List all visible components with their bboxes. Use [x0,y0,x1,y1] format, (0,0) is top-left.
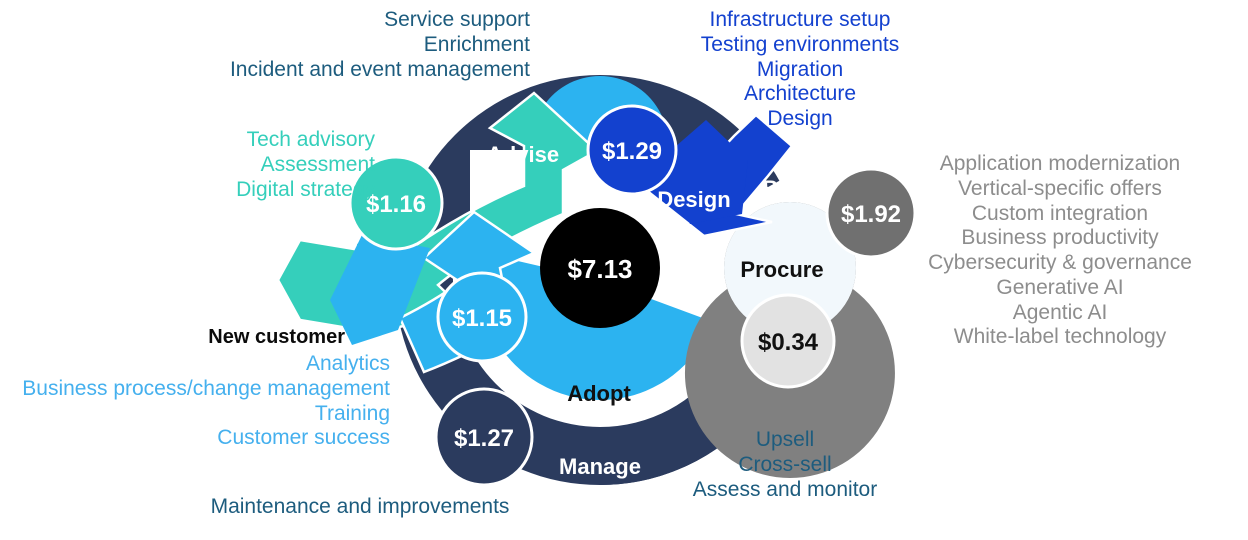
annotation-manage-top-0: Service support [120,8,530,33]
annotation-design-3: Architecture [660,82,940,107]
annotation-group-manage-bottom: Maintenance and improvements [180,495,540,520]
bubble-design-value: $1.29 [602,138,662,165]
annotation-group-design: Infrastructure setup Testing environment… [660,8,940,132]
annotation-advise-0: Tech advisory [110,128,375,153]
stage-label-advise: Advise [487,142,559,167]
bubble-adopt[interactable]: $1.15 [438,273,526,361]
annotation-group-procure: Upsell Cross-sell Assess and monitor [640,428,930,502]
annotation-build-3: Business productivity [900,226,1220,251]
annotation-manage-top-2: Incident and event management [120,58,530,83]
annotation-procure-0: Upsell [640,428,930,453]
annotation-procure-1: Cross-sell [640,453,930,478]
annotation-advise-2: Digital strategy [110,178,375,203]
center-total-label: $7.13 [567,254,632,284]
annotation-build-4: Cybersecurity & governance [900,251,1220,276]
annotation-build-5: Generative AI [900,276,1220,301]
diagram-canvas: $1.16 $1.29 $1.92 $0.34 $1.15 $1.27 $7.1… [0,0,1248,540]
bubble-procure-value: $0.34 [758,329,819,356]
annotation-group-adopt: Analytics Business process/change manage… [0,352,390,451]
stage-label-build: Build [763,176,818,201]
annotation-adopt-1: Business process/change management [0,377,390,402]
annotation-build-6: Agentic AI [900,301,1220,326]
annotation-manage-bottom-0: Maintenance and improvements [180,495,540,520]
annotation-design-2: Migration [660,58,940,83]
annotation-adopt-2: Training [0,402,390,427]
annotation-design-1: Testing environments [660,33,940,58]
new-customer-label-wrap: New customer [60,326,345,350]
stage-label-manage: Manage [559,454,641,479]
stage-label-procure: Procure [740,257,823,282]
annotation-group-manage-top: Service support Enrichment Incident and … [120,8,530,82]
annotation-manage-top-1: Enrichment [120,33,530,58]
annotation-build-1: Vertical-specific offers [900,177,1220,202]
bubble-build-value: $1.92 [841,201,901,228]
annotation-adopt-0: Analytics [0,352,390,377]
annotation-group-build: Application modernization Vertical-speci… [900,152,1220,350]
bubble-manage-value: $1.27 [454,425,514,452]
annotation-adopt-3: Customer success [0,426,390,451]
bubble-adopt-value: $1.15 [452,305,512,332]
bubble-procure[interactable]: $0.34 [742,295,834,387]
annotation-build-2: Custom integration [900,202,1220,227]
stage-label-design: Design [657,187,730,212]
bubble-manage[interactable]: $1.27 [436,389,532,485]
annotation-design-0: Infrastructure setup [660,8,940,33]
annotation-build-0: Application modernization [900,152,1220,177]
annotation-group-advise: Tech advisory Assessment Digital strateg… [110,128,375,202]
stage-label-adopt: Adopt [567,381,631,406]
annotation-procure-2: Assess and monitor [640,478,930,503]
annotation-advise-1: Assessment [110,153,375,178]
new-customer-label: New customer [60,326,345,350]
annotation-design-4: Design [660,107,940,132]
annotation-build-7: White-label technology [900,325,1220,350]
